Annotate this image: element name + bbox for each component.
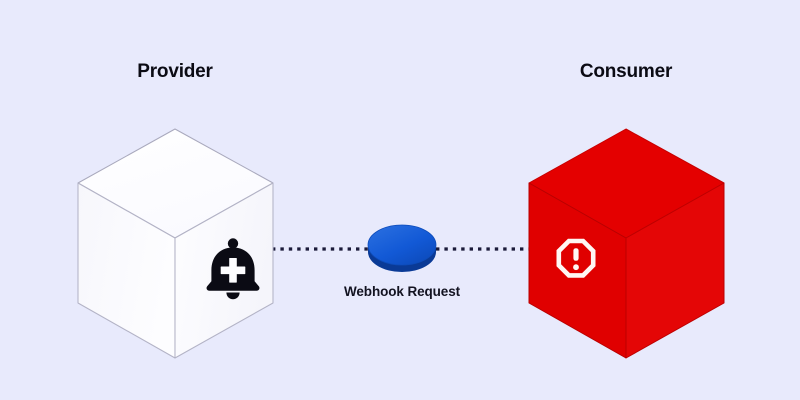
consumer-title: Consumer — [580, 61, 672, 83]
webhook-request-label: Webhook Request — [344, 284, 460, 299]
provider-title: Provider — [137, 61, 213, 83]
webhook-request-disc[interactable] — [368, 225, 436, 272]
consumer-cube[interactable] — [529, 129, 724, 358]
diagram-graphics — [0, 0, 800, 400]
provider-cube[interactable] — [78, 129, 273, 358]
disc-top — [368, 225, 436, 265]
diagram-canvas: Provider Consumer Webhook Request — [0, 0, 800, 400]
